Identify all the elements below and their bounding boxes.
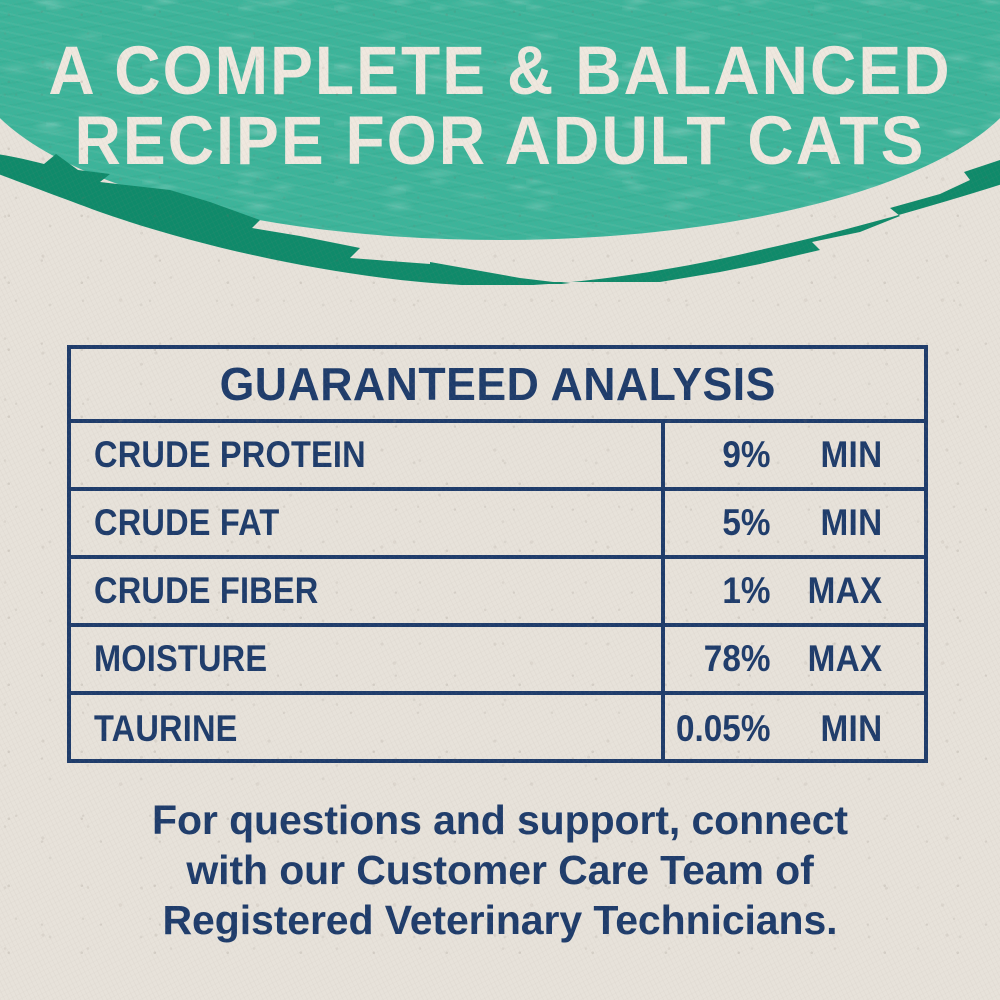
table-row: MOISTURE 78% MAX xyxy=(71,627,924,695)
nutrient-cell: CRUDE PROTEIN xyxy=(71,423,665,487)
amount-cell: 9% MIN xyxy=(665,423,924,487)
table-row: TAURINE 0.05% MIN xyxy=(71,695,924,763)
support-note-line-1: For questions and support, connect xyxy=(70,795,930,845)
support-note-line-3: Registered Veterinary Technicians. xyxy=(70,895,930,945)
nutrient-cell: CRUDE FAT xyxy=(71,491,665,555)
nutrient-label: TAURINE xyxy=(94,708,238,750)
nutrient-qualifier: MAX xyxy=(782,570,883,612)
nutrient-cell: MOISTURE xyxy=(71,627,665,691)
support-note-line-2: with our Customer Care Team of xyxy=(70,845,930,895)
nutrient-qualifier: MIN xyxy=(782,708,883,750)
nutrient-value: 78% xyxy=(671,638,771,680)
guaranteed-analysis-table: GUARANTEED ANALYSIS CRUDE PROTEIN 9% MIN… xyxy=(67,345,928,763)
nutrient-cell: CRUDE FIBER xyxy=(71,559,665,623)
headline-line-2: RECIPE FOR ADULT CATS xyxy=(35,106,965,176)
table-row: CRUDE FAT 5% MIN xyxy=(71,491,924,559)
product-label-panel: A COMPLETE & BALANCED RECIPE FOR ADULT C… xyxy=(0,0,1000,1000)
nutrient-label: MOISTURE xyxy=(94,638,267,680)
table-row: CRUDE FIBER 1% MAX xyxy=(71,559,924,627)
table-row: CRUDE PROTEIN 9% MIN xyxy=(71,423,924,491)
nutrient-value: 1% xyxy=(671,570,771,612)
amount-cell: 0.05% MIN xyxy=(665,695,924,763)
nutrient-qualifier: MIN xyxy=(782,434,883,476)
table-title: GUARANTEED ANALYSIS xyxy=(219,357,775,411)
nutrient-value: 0.05% xyxy=(671,708,771,750)
nutrient-qualifier: MAX xyxy=(782,638,883,680)
headline: A COMPLETE & BALANCED RECIPE FOR ADULT C… xyxy=(0,36,1000,176)
amount-cell: 1% MAX xyxy=(665,559,924,623)
nutrient-qualifier: MIN xyxy=(782,502,883,544)
table-header-row: GUARANTEED ANALYSIS xyxy=(71,349,924,423)
nutrient-cell: TAURINE xyxy=(71,695,665,763)
amount-cell: 5% MIN xyxy=(665,491,924,555)
nutrient-value: 5% xyxy=(671,502,771,544)
nutrient-label: CRUDE FAT xyxy=(94,502,279,544)
table-body: CRUDE PROTEIN 9% MIN CRUDE FAT 5% MIN xyxy=(71,423,924,763)
nutrient-value: 9% xyxy=(671,434,771,476)
nutrient-label: CRUDE PROTEIN xyxy=(94,434,366,476)
nutrient-label: CRUDE FIBER xyxy=(94,570,318,612)
customer-support-note: For questions and support, connect with … xyxy=(70,795,930,945)
amount-cell: 78% MAX xyxy=(665,627,924,691)
headline-line-1: A COMPLETE & BALANCED xyxy=(35,36,965,106)
